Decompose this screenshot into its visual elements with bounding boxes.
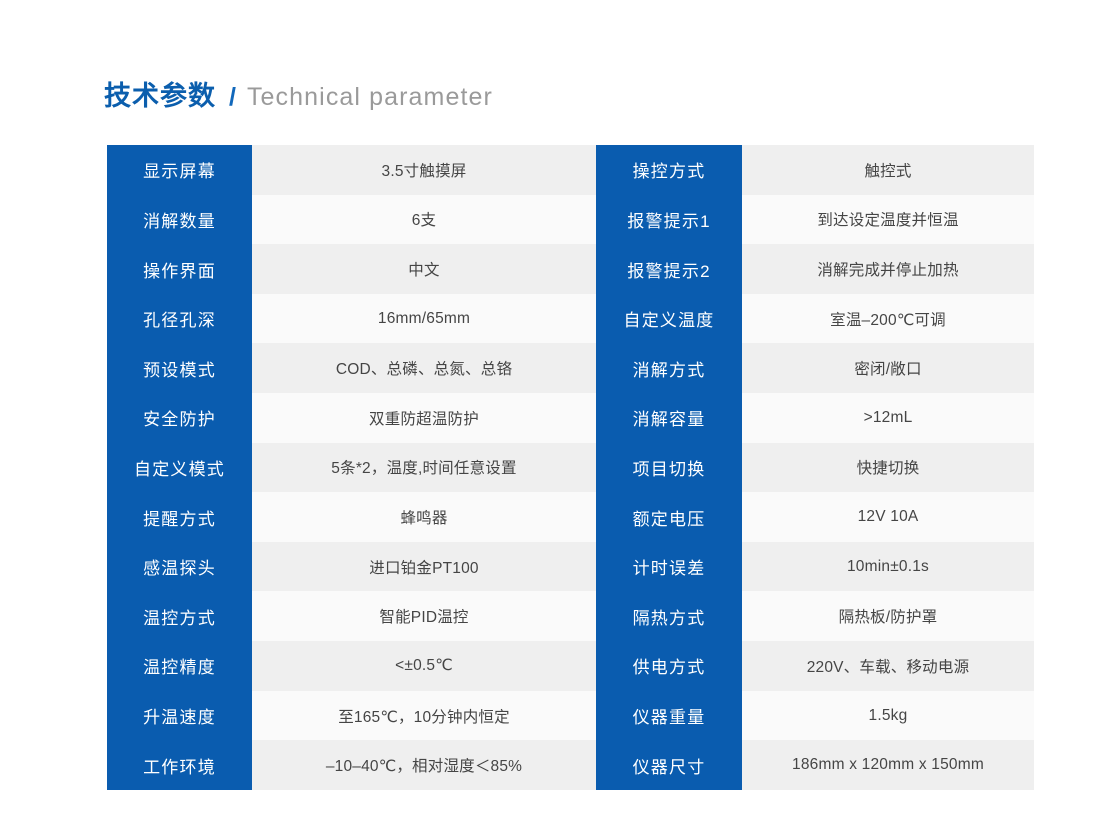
spec-label-right: 供电方式 bbox=[596, 641, 742, 691]
spec-value-right: 到达设定温度并恒温 bbox=[742, 195, 1034, 245]
spec-label-left: 操作界面 bbox=[107, 244, 252, 294]
spec-label-right: 额定电压 bbox=[596, 492, 742, 542]
table-row: 消解数量6支报警提示1到达设定温度并恒温 bbox=[107, 195, 1034, 245]
spec-value-left: –10–40℃，相对湿度＜85% bbox=[252, 740, 596, 790]
spec-value-left: 双重防超温防护 bbox=[252, 393, 596, 443]
spec-value-left: 3.5寸触摸屏 bbox=[252, 145, 596, 195]
table-row: 孔径孔深16mm/65mm自定义温度室温–200℃可调 bbox=[107, 294, 1034, 344]
spec-value-left: <±0.5℃ bbox=[252, 641, 596, 691]
page-title-chinese: 技术参数 bbox=[104, 74, 216, 113]
spec-label-right: 仪器尺寸 bbox=[596, 740, 742, 790]
spec-value-left: 5条*2，温度,时间任意设置 bbox=[252, 443, 596, 493]
spec-value-right: 隔热板/防护罩 bbox=[742, 591, 1034, 641]
spec-label-left: 升温速度 bbox=[107, 691, 252, 741]
spec-value-right: 1.5kg bbox=[742, 691, 1034, 741]
spec-label-right: 隔热方式 bbox=[596, 591, 742, 641]
spec-value-right: 消解完成并停止加热 bbox=[742, 244, 1034, 294]
spec-label-left: 消解数量 bbox=[107, 195, 252, 245]
spec-label-right: 消解方式 bbox=[596, 343, 742, 393]
spec-value-left: 进口铂金PT100 bbox=[252, 542, 596, 592]
table-row: 提醒方式蜂鸣器额定电压12V 10A bbox=[107, 492, 1034, 542]
spec-label-left: 自定义模式 bbox=[107, 443, 252, 493]
spec-label-right: 消解容量 bbox=[596, 393, 742, 443]
title-separator: / bbox=[229, 83, 236, 112]
spec-value-right: 室温–200℃可调 bbox=[742, 294, 1034, 344]
table-row: 操作界面中文报警提示2消解完成并停止加热 bbox=[107, 244, 1034, 294]
spec-value-left: 至165℃，10分钟内恒定 bbox=[252, 691, 596, 741]
spec-label-right: 报警提示2 bbox=[596, 244, 742, 294]
page-title: 技术参数 / Technical parameter bbox=[104, 74, 493, 113]
spec-value-right: 186mm x 120mm x 150mm bbox=[742, 740, 1034, 790]
spec-value-right: 10min±0.1s bbox=[742, 542, 1034, 592]
spec-value-left: 16mm/65mm bbox=[252, 294, 596, 344]
spec-label-right: 操控方式 bbox=[596, 145, 742, 195]
spec-label-left: 温控方式 bbox=[107, 591, 252, 641]
spec-value-left: 蜂鸣器 bbox=[252, 492, 596, 542]
table-row: 温控精度<±0.5℃供电方式220V、车载、移动电源 bbox=[107, 641, 1034, 691]
table-row: 工作环境–10–40℃，相对湿度＜85%仪器尺寸186mm x 120mm x … bbox=[107, 740, 1034, 790]
spec-value-left: COD、总磷、总氮、总铬 bbox=[252, 343, 596, 393]
spec-label-left: 安全防护 bbox=[107, 393, 252, 443]
spec-label-left: 工作环境 bbox=[107, 740, 252, 790]
spec-label-right: 计时误差 bbox=[596, 542, 742, 592]
spec-value-right: >12mL bbox=[742, 393, 1034, 443]
spec-table: 显示屏幕3.5寸触摸屏操控方式触控式消解数量6支报警提示1到达设定温度并恒温操作… bbox=[107, 145, 1034, 790]
spec-label-right: 自定义温度 bbox=[596, 294, 742, 344]
spec-value-right: 密闭/敞口 bbox=[742, 343, 1034, 393]
spec-value-right: 12V 10A bbox=[742, 492, 1034, 542]
table-row: 自定义模式5条*2，温度,时间任意设置项目切换快捷切换 bbox=[107, 443, 1034, 493]
table-row: 预设模式COD、总磷、总氮、总铬消解方式密闭/敞口 bbox=[107, 343, 1034, 393]
technical-parameter-page: 技术参数 / Technical parameter 显示屏幕3.5寸触摸屏操控… bbox=[0, 0, 1120, 832]
spec-value-right: 220V、车载、移动电源 bbox=[742, 641, 1034, 691]
spec-label-left: 温控精度 bbox=[107, 641, 252, 691]
table-row: 感温探头进口铂金PT100计时误差10min±0.1s bbox=[107, 542, 1034, 592]
table-row: 升温速度至165℃，10分钟内恒定仪器重量1.5kg bbox=[107, 691, 1034, 741]
table-row: 安全防护双重防超温防护消解容量>12mL bbox=[107, 393, 1034, 443]
spec-value-left: 智能PID温控 bbox=[252, 591, 596, 641]
spec-label-left: 提醒方式 bbox=[107, 492, 252, 542]
table-row: 温控方式智能PID温控隔热方式隔热板/防护罩 bbox=[107, 591, 1034, 641]
spec-label-left: 显示屏幕 bbox=[107, 145, 252, 195]
spec-value-right: 快捷切换 bbox=[742, 443, 1034, 493]
spec-label-left: 预设模式 bbox=[107, 343, 252, 393]
spec-value-left: 中文 bbox=[252, 244, 596, 294]
spec-value-right: 触控式 bbox=[742, 145, 1034, 195]
page-title-english: Technical parameter bbox=[247, 83, 493, 112]
spec-label-right: 报警提示1 bbox=[596, 195, 742, 245]
spec-label-left: 感温探头 bbox=[107, 542, 252, 592]
table-row: 显示屏幕3.5寸触摸屏操控方式触控式 bbox=[107, 145, 1034, 195]
spec-label-right: 项目切换 bbox=[596, 443, 742, 493]
spec-value-left: 6支 bbox=[252, 195, 596, 245]
spec-label-left: 孔径孔深 bbox=[107, 294, 252, 344]
spec-label-right: 仪器重量 bbox=[596, 691, 742, 741]
